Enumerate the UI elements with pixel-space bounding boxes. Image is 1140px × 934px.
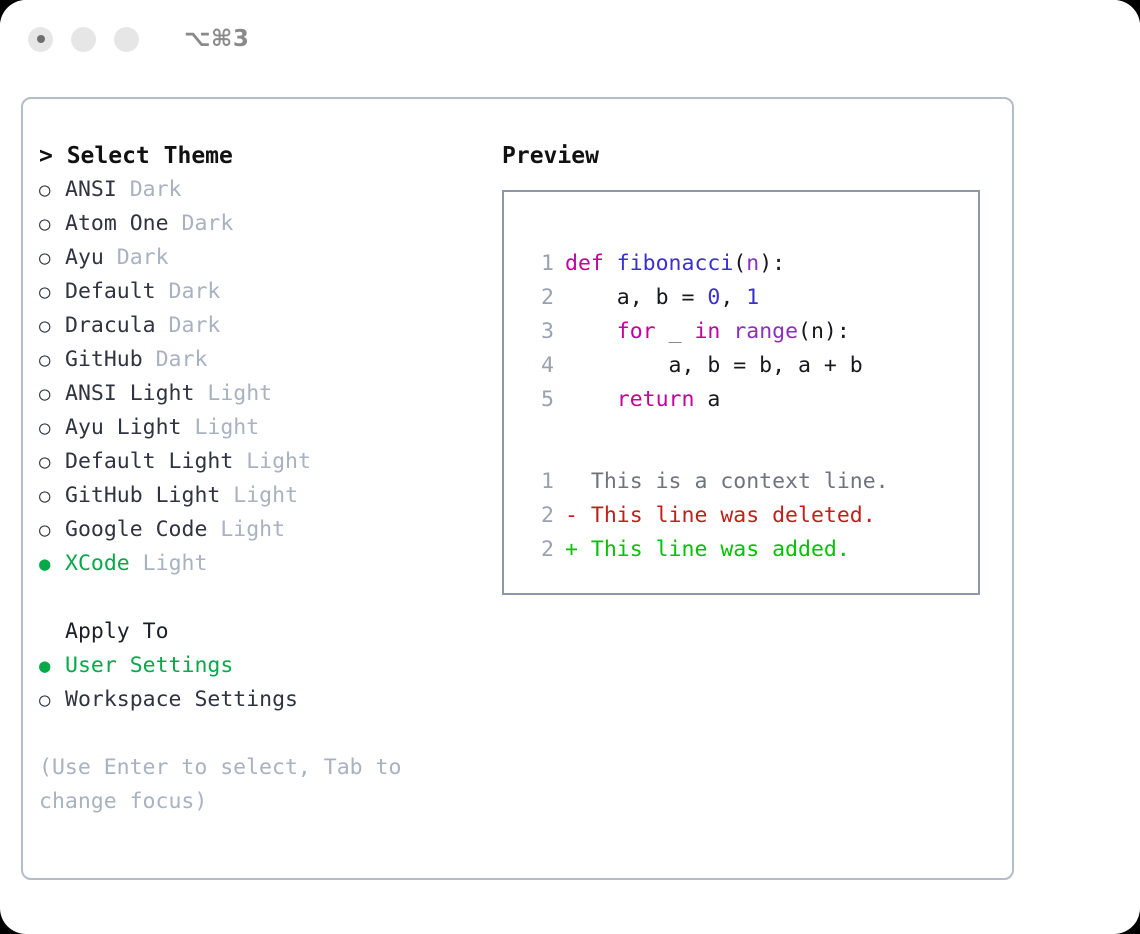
token-plain	[565, 387, 617, 412]
theme-list-item[interactable]: ○Default Light Light	[39, 445, 479, 479]
token-plain: ,	[720, 285, 746, 310]
theme-name: ANSI	[65, 173, 117, 207]
theme-list-item[interactable]: ○ANSI Light Light	[39, 377, 479, 411]
token-builtin: range	[733, 319, 798, 344]
theme-variant-tag: Dark	[104, 241, 169, 275]
theme-list-item-selected[interactable]: ●XCode Light	[39, 547, 479, 581]
radio-icon[interactable]: ○	[39, 173, 65, 207]
title-bar: ⌥⌘3	[0, 0, 1140, 78]
theme-name: ANSI Light	[65, 377, 194, 411]
theme-list-item[interactable]: ○Ayu Dark	[39, 241, 479, 275]
code-line: 4 a, b = b, a + b	[526, 349, 889, 383]
theme-variant-tag: Light	[130, 547, 208, 581]
theme-name: GitHub	[65, 343, 143, 377]
theme-variant-tag: Dark	[117, 173, 182, 207]
radio-icon[interactable]: ○	[39, 683, 65, 717]
code-line: 5 return a	[526, 383, 889, 417]
radio-icon[interactable]: ○	[39, 275, 65, 309]
token-plain: a	[707, 387, 720, 412]
token-plain: (n):	[798, 319, 850, 344]
radio-icon[interactable]: ○	[39, 241, 65, 275]
radio-icon[interactable]: ○	[39, 479, 65, 513]
token-plain: ):	[759, 251, 785, 276]
preview-column: Preview 1 def fibonacci(n): 2 a, b = 0, …	[502, 139, 992, 595]
theme-variant-tag: Light	[194, 377, 272, 411]
apply-to-label: Workspace Settings	[65, 683, 298, 717]
theme-name: Ayu	[65, 241, 104, 275]
token-function: fibonacci	[617, 251, 734, 276]
diff-content: This is a context line.	[565, 465, 889, 499]
apply-to-item-workspace-settings[interactable]: ○Workspace Settings	[39, 683, 479, 717]
window-close-button[interactable]	[28, 27, 53, 52]
diff-line-deleted: 2 - This line was deleted.	[526, 499, 889, 533]
theme-variant-tag: Light	[207, 513, 285, 547]
theme-list-item[interactable]: ○ANSI Dark	[39, 173, 479, 207]
token-keyword: for	[617, 319, 669, 344]
theme-list-item[interactable]: ○Atom One Dark	[39, 207, 479, 241]
token-plain: (	[733, 251, 746, 276]
app-window: ⌥⌘3 > Select Theme ○ANSI Dark ○Atom One …	[0, 0, 1140, 934]
theme-list-item[interactable]: ○GitHub Light Light	[39, 479, 479, 513]
theme-list[interactable]: ○ANSI Dark ○Atom One Dark ○Ayu Dark ○Def…	[39, 173, 479, 581]
token-placeholder: _	[669, 319, 682, 344]
code-content: return a	[565, 383, 720, 417]
token-variable: n	[746, 251, 759, 276]
apply-to-list[interactable]: ●User Settings ○Workspace Settings	[39, 649, 479, 717]
token-plain	[682, 319, 695, 344]
token-keyword: def	[565, 251, 617, 276]
theme-selection-column: > Select Theme ○ANSI Dark ○Atom One Dark…	[39, 139, 479, 819]
token-number: 0	[707, 285, 720, 310]
diff-line-added: 2 + This line was added.	[526, 533, 889, 567]
diff-line-context: 1 This is a context line.	[526, 465, 889, 499]
line-number: 5	[526, 383, 554, 417]
code-spacer	[526, 451, 889, 465]
code-line: 2 a, b = 0, 1	[526, 281, 889, 315]
theme-name: Ayu Light	[65, 411, 182, 445]
select-theme-heading: > Select Theme	[39, 139, 479, 173]
theme-name: XCode	[65, 547, 130, 581]
theme-list-item[interactable]: ○Dracula Dark	[39, 309, 479, 343]
radio-icon[interactable]: ○	[39, 411, 65, 445]
code-content: for _ in range(n):	[565, 315, 850, 349]
code-line: 3 for _ in range(n):	[526, 315, 889, 349]
line-number: 2	[526, 533, 554, 567]
theme-name: Google Code	[65, 513, 207, 547]
theme-variant-tag: Dark	[143, 343, 208, 377]
radio-icon[interactable]: ○	[39, 513, 65, 547]
token-keyword: return	[617, 387, 708, 412]
token-number: 1	[746, 285, 759, 310]
theme-name: Atom One	[65, 207, 169, 241]
line-number: 1	[526, 247, 554, 281]
code-line: 1 def fibonacci(n):	[526, 247, 889, 281]
apply-to-heading: Apply To	[39, 615, 479, 649]
active-dot-icon	[37, 35, 45, 43]
code-content: a, b = b, a + b	[565, 349, 863, 383]
theme-list-item[interactable]: ○Google Code Light	[39, 513, 479, 547]
token-keyword: in	[694, 319, 733, 344]
line-number: 2	[526, 281, 554, 315]
theme-list-item[interactable]: ○Default Dark	[39, 275, 479, 309]
radio-icon[interactable]: ○	[39, 445, 65, 479]
radio-selected-icon[interactable]: ●	[39, 547, 65, 581]
diff-content: + This line was added.	[565, 533, 850, 567]
line-number: 2	[526, 499, 554, 533]
theme-variant-tag: Dark	[169, 207, 234, 241]
theme-name: Default Light	[65, 445, 233, 479]
theme-variant-tag: Light	[220, 479, 298, 513]
preview-box: 1 def fibonacci(n): 2 a, b = 0, 1 3 for …	[502, 190, 980, 595]
radio-icon[interactable]: ○	[39, 377, 65, 411]
theme-variant-tag: Light	[233, 445, 311, 479]
apply-to-label: User Settings	[65, 649, 233, 683]
theme-list-item[interactable]: ○Ayu Light Light	[39, 411, 479, 445]
code-spacer	[526, 417, 889, 451]
keyboard-shortcut-label: ⌥⌘3	[184, 26, 249, 52]
token-plain: a, b =	[565, 285, 707, 310]
preview-heading: Preview	[502, 139, 992, 173]
line-number: 4	[526, 349, 554, 383]
theme-name: GitHub Light	[65, 479, 220, 513]
window-minimize-button[interactable]	[71, 27, 96, 52]
token-plain	[565, 319, 617, 344]
theme-name: Dracula	[65, 309, 156, 343]
theme-variant-tag: Light	[182, 411, 260, 445]
diff-content: - This line was deleted.	[565, 499, 876, 533]
radio-selected-icon[interactable]: ●	[39, 649, 65, 683]
theme-list-item[interactable]: ○GitHub Dark	[39, 343, 479, 377]
radio-icon[interactable]: ○	[39, 309, 65, 343]
theme-variant-tag: Dark	[156, 309, 221, 343]
apply-to-item-user-settings[interactable]: ●User Settings	[39, 649, 479, 683]
theme-name: Default	[65, 275, 156, 309]
window-maximize-button[interactable]	[114, 27, 139, 52]
theme-variant-tag: Dark	[156, 275, 221, 309]
line-number: 3	[526, 315, 554, 349]
traffic-light-buttons	[28, 27, 139, 52]
radio-icon[interactable]: ○	[39, 343, 65, 377]
line-number: 1	[526, 465, 554, 499]
code-preview: 1 def fibonacci(n): 2 a, b = 0, 1 3 for …	[526, 247, 889, 567]
code-content: a, b = 0, 1	[565, 281, 759, 315]
radio-icon[interactable]: ○	[39, 207, 65, 241]
code-content: def fibonacci(n):	[565, 247, 785, 281]
keyboard-hint-text: (Use Enter to select, Tab to change focu…	[39, 751, 444, 819]
main-panel: > Select Theme ○ANSI Dark ○Atom One Dark…	[21, 97, 1014, 880]
